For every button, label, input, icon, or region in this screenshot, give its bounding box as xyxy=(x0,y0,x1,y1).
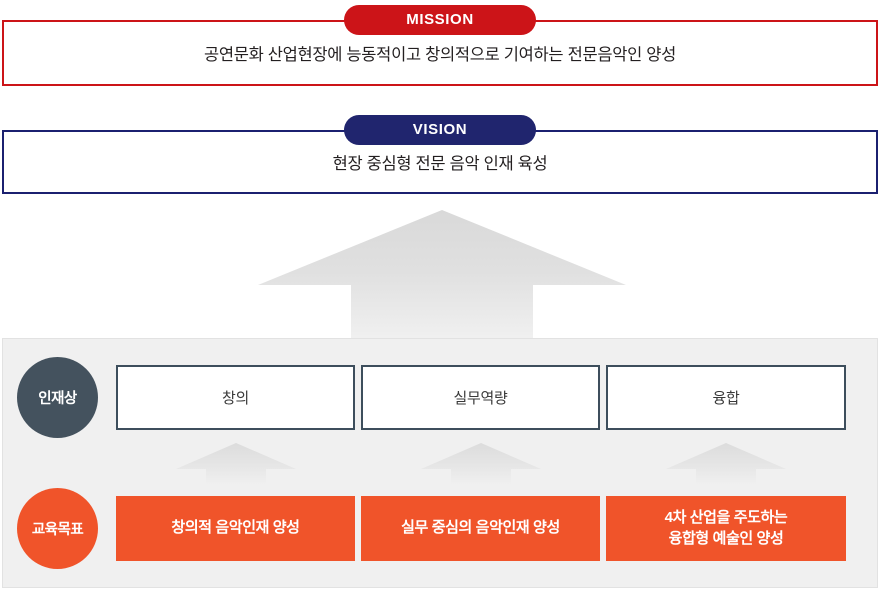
vision-badge: VISION xyxy=(344,115,536,145)
goal-box-2: 실무 중심의 음악인재 양성 xyxy=(361,496,600,561)
row-label-goal: 교육목표 xyxy=(17,488,98,569)
goal-box-3: 4차 산업을 주도하는 융합형 예술인 양성 xyxy=(606,496,846,561)
small-up-arrow-3-icon xyxy=(666,443,786,485)
goal-box-2-line-1: 실무 중심의 음악인재 양성 xyxy=(401,518,560,538)
goal-box-3-line-1: 4차 산업을 주도하는 xyxy=(665,508,788,528)
goal-box-3-line-2: 융합형 예술인 양성 xyxy=(665,529,788,549)
small-up-arrow-2-icon xyxy=(421,443,541,485)
talent-box-1: 창의 xyxy=(116,365,355,430)
mission-badge: MISSION xyxy=(344,5,536,35)
row-label-talent: 인재상 xyxy=(17,357,98,438)
talent-box-2: 실무역량 xyxy=(361,365,600,430)
vision-text: 현장 중심형 전문 음악 인재 육성 xyxy=(2,150,878,174)
talent-box-3: 융합 xyxy=(606,365,846,430)
mission-text: 공연문화 산업현장에 능동적이고 창의적으로 기여하는 전문음악인 양성 xyxy=(2,41,878,65)
vision-banner: 현장 중심형 전문 음악 인재 육성 VISION xyxy=(2,130,878,194)
small-up-arrow-1-icon xyxy=(176,443,296,485)
goal-box-1-line-1: 창의적 음악인재 양성 xyxy=(171,518,299,538)
big-up-arrow-icon xyxy=(258,210,626,338)
mission-banner: 공연문화 산업현장에 능동적이고 창의적으로 기여하는 전문음악인 양성 MIS… xyxy=(2,20,878,86)
diagram-canvas: 공연문화 산업현장에 능동적이고 창의적으로 기여하는 전문음악인 양성 MIS… xyxy=(0,0,880,595)
goal-box-1: 창의적 음악인재 양성 xyxy=(116,496,355,561)
